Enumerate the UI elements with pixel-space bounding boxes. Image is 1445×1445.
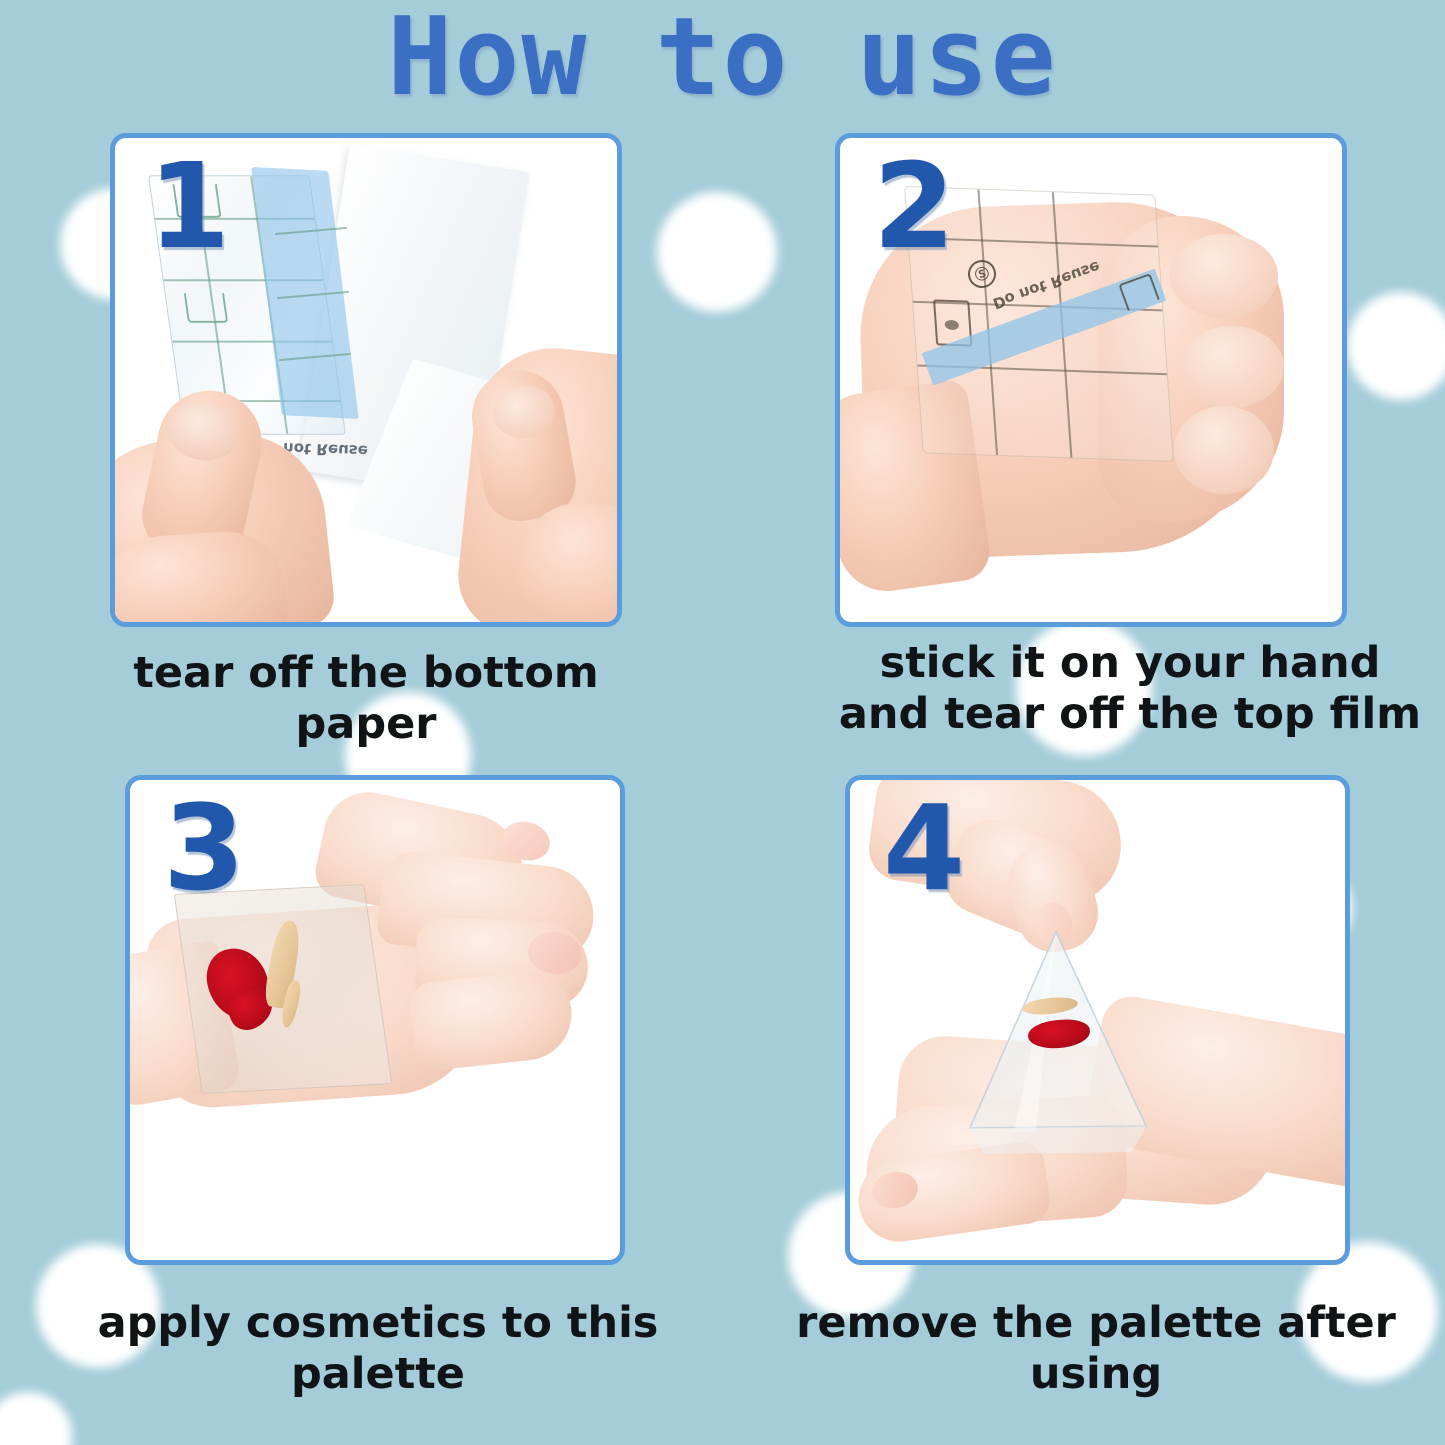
step-number-3: 3 xyxy=(163,781,245,917)
little-finger xyxy=(408,968,576,1072)
step-card-2[interactable]: Do not Reuse Ⓢ 2 xyxy=(835,133,1347,627)
step-number-2: 2 xyxy=(873,139,955,275)
steps-grid: Do not Reuse Ⓢ 1 tear off the bottom pap… xyxy=(0,0,1445,1445)
step-caption-4: remove the palette after using xyxy=(750,1298,1442,1399)
page-title: How to use xyxy=(0,0,1445,120)
step-number-1: 1 xyxy=(148,139,230,275)
step-caption-1: tear off the bottom paper xyxy=(60,648,672,749)
step-number-4: 4 xyxy=(883,781,965,917)
step-caption-2: stick it on your hand and tear off the t… xyxy=(820,638,1440,739)
step-caption-3: apply cosmetics to this palette xyxy=(20,1298,736,1399)
step-card-4[interactable]: 4 xyxy=(845,775,1350,1265)
step-card-3[interactable]: 3 xyxy=(125,775,625,1265)
step-card-1[interactable]: Do not Reuse Ⓢ 1 xyxy=(110,133,622,627)
